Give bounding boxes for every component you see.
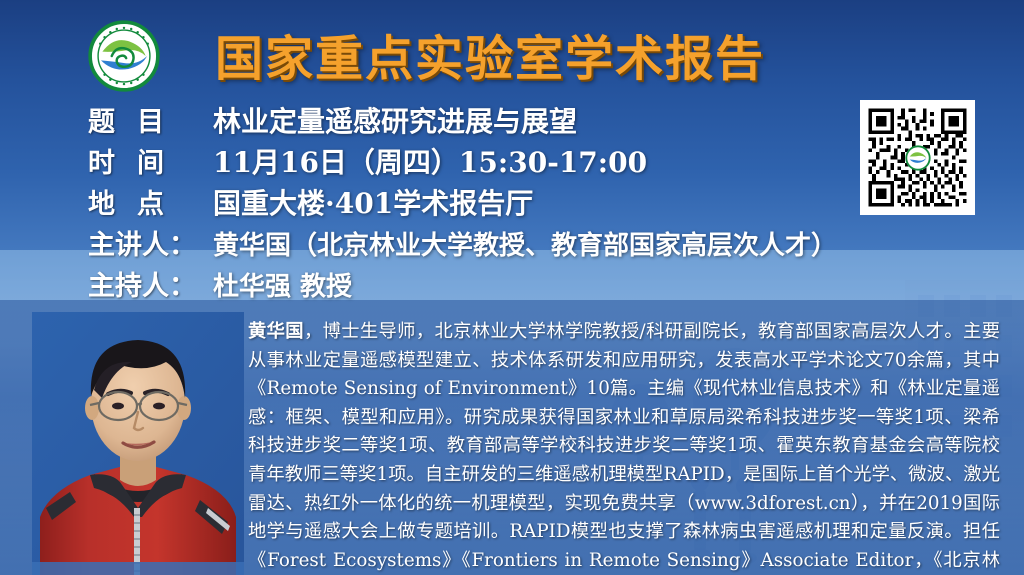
time-value: 11月16日（周四）15:30-17:00 — [213, 141, 647, 181]
topic-value: 林业定量遥感研究进展与展望 — [213, 100, 577, 140]
host-label: 主持人： — [88, 264, 213, 303]
bio-text: ，博士生导师，北京林业大学林学院教授/科研副院长，教育部国家高层次人才。主要从事… — [248, 321, 1000, 575]
poster-header: 国家重点实验室学术报告 — [0, 0, 1024, 95]
bio-speaker-name: 黄华国 — [248, 321, 304, 342]
detail-row-topic: 题目 林业定量遥感研究进展与展望 — [88, 100, 888, 141]
detail-row-speaker: 主讲人： 黄华国（北京林业大学教授、教育部国家高层次人才） — [88, 223, 888, 264]
event-details: 题目 林业定量遥感研究进展与展望 时间 11月16日（周四）15:30-17:0… — [88, 100, 888, 305]
page-title: 国家重点实验室学术报告 — [215, 19, 765, 89]
venue-value: 国重大楼·401学术报告厅 — [213, 182, 533, 222]
qr-code[interactable] — [860, 100, 975, 215]
speaker-biography: 黄华国，博士生导师，北京林业大学林学院教授/科研副院长，教育部国家高层次人才。主… — [248, 318, 1000, 575]
qr-center-emblem-icon — [905, 145, 931, 171]
speaker-label: 主讲人： — [88, 223, 213, 262]
speaker-value: 黄华国（北京林业大学教授、教育部国家高层次人才） — [213, 225, 837, 262]
detail-row-time: 时间 11月16日（周四）15:30-17:00 — [88, 141, 888, 182]
venue-label: 地点 — [88, 182, 213, 221]
speaker-portrait — [32, 312, 244, 575]
time-label: 时间 — [88, 141, 213, 180]
detail-row-venue: 地点 国重大楼·401学术报告厅 — [88, 182, 888, 223]
host-value: 杜华强 教授 — [213, 266, 352, 303]
detail-row-host: 主持人： 杜华强 教授 — [88, 264, 888, 305]
topic-label: 题目 — [88, 100, 213, 139]
state-key-laboratory-emblem-icon — [88, 20, 160, 92]
seminar-poster: 国家重点实验室学术报告 题目 林业定量遥感研究进展与展望 时间 11月16日（周… — [0, 0, 1024, 575]
